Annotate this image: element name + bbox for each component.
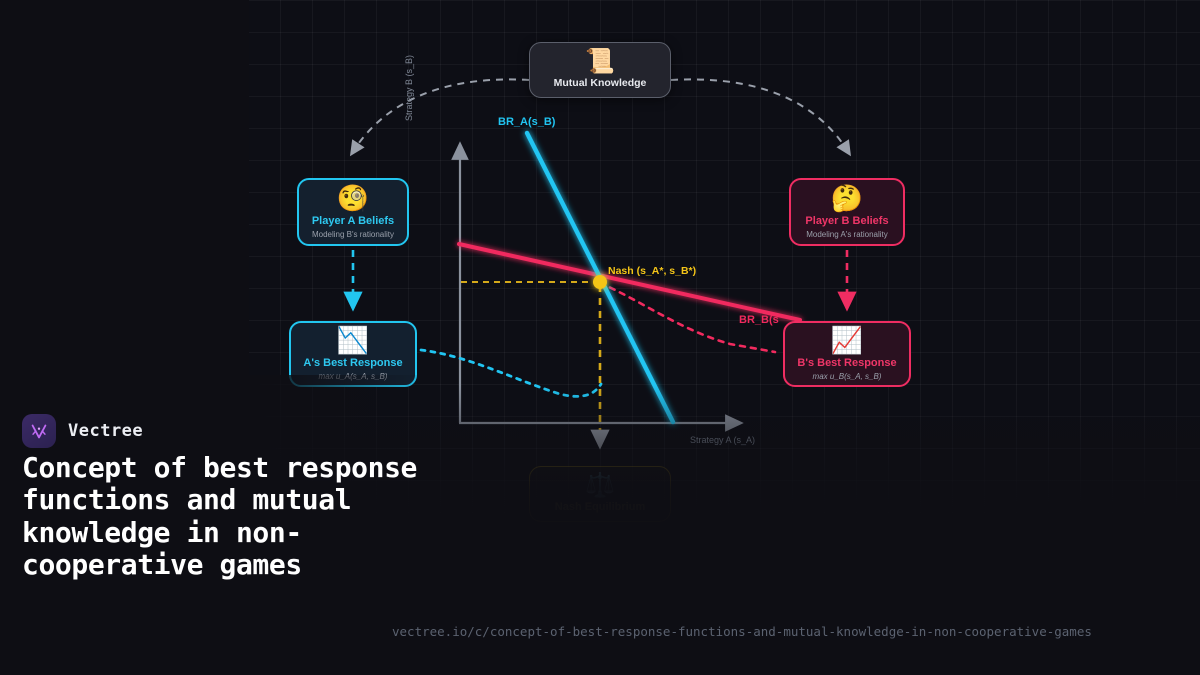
chart-label-nash-point: Nash (s_A*, s_B*): [608, 265, 696, 277]
balance-scale-icon: ⚖️: [585, 474, 615, 498]
node-title: Player B Beliefs: [805, 215, 888, 228]
chart-increasing-icon: 📈: [831, 327, 863, 353]
node-nash-equilibrium[interactable]: ⚖️ Nash Equilibrium: [529, 466, 671, 522]
scroll-icon: 📜: [585, 50, 615, 74]
thinking-face-icon: 🤔: [831, 185, 863, 211]
node-title: A's Best Response: [303, 357, 402, 370]
chart-x-axis-label: Strategy A (s_A): [690, 435, 755, 445]
brand-name: Vectree: [68, 421, 143, 441]
chart-label-br-b: BR_B(s: [739, 314, 779, 326]
chart-label-br-a: BR_A(s_B): [498, 116, 555, 128]
brand-block: Vectree: [22, 414, 143, 448]
node-b-best-response[interactable]: 📈 B's Best Response max u_B(s_A, s_B): [783, 321, 911, 387]
connector-mutual-to-player-a: [354, 79, 529, 150]
node-player-b-beliefs[interactable]: 🤔 Player B Beliefs Modeling A's rational…: [789, 178, 905, 246]
connector-mutual-to-player-b: [671, 79, 847, 150]
node-player-a-beliefs[interactable]: 🧐 Player A Beliefs Modeling B's rational…: [297, 178, 409, 246]
face-with-monocle-icon: 🧐: [337, 185, 369, 211]
page-url: vectree.io/c/concept-of-best-response-fu…: [392, 624, 1092, 639]
series-br-a-dotted: [421, 350, 601, 396]
node-a-best-response[interactable]: 📉 A's Best Response max u_A(s_A, s_B): [289, 321, 417, 387]
infographic-canvas: BR_A(s_B) BR_B(s Nash (s_A*, s_B*) Strat…: [0, 0, 1200, 675]
node-title: Player A Beliefs: [312, 215, 394, 228]
node-title: Mutual Knowledge: [554, 77, 647, 89]
node-subtitle: Modeling B's rationality: [312, 230, 394, 239]
vectree-glyph: [28, 420, 50, 442]
node-title: Nash Equilibrium: [555, 501, 645, 514]
node-subtitle: max u_B(s_A, s_B): [813, 372, 882, 381]
node-subtitle: Modeling A's rationality: [806, 230, 888, 239]
nash-point-marker[interactable]: [593, 275, 607, 289]
chart-decreasing-icon: 📉: [337, 327, 369, 353]
node-mutual-knowledge[interactable]: 📜 Mutual Knowledge: [529, 42, 671, 98]
node-subtitle: max u_A(s_A, s_B): [319, 372, 388, 381]
page-title: Concept of best response functions and m…: [22, 452, 422, 582]
chart-y-axis-label: Strategy B (s_B): [404, 55, 414, 121]
vectree-logo-icon: [22, 414, 56, 448]
node-title: B's Best Response: [797, 357, 896, 370]
